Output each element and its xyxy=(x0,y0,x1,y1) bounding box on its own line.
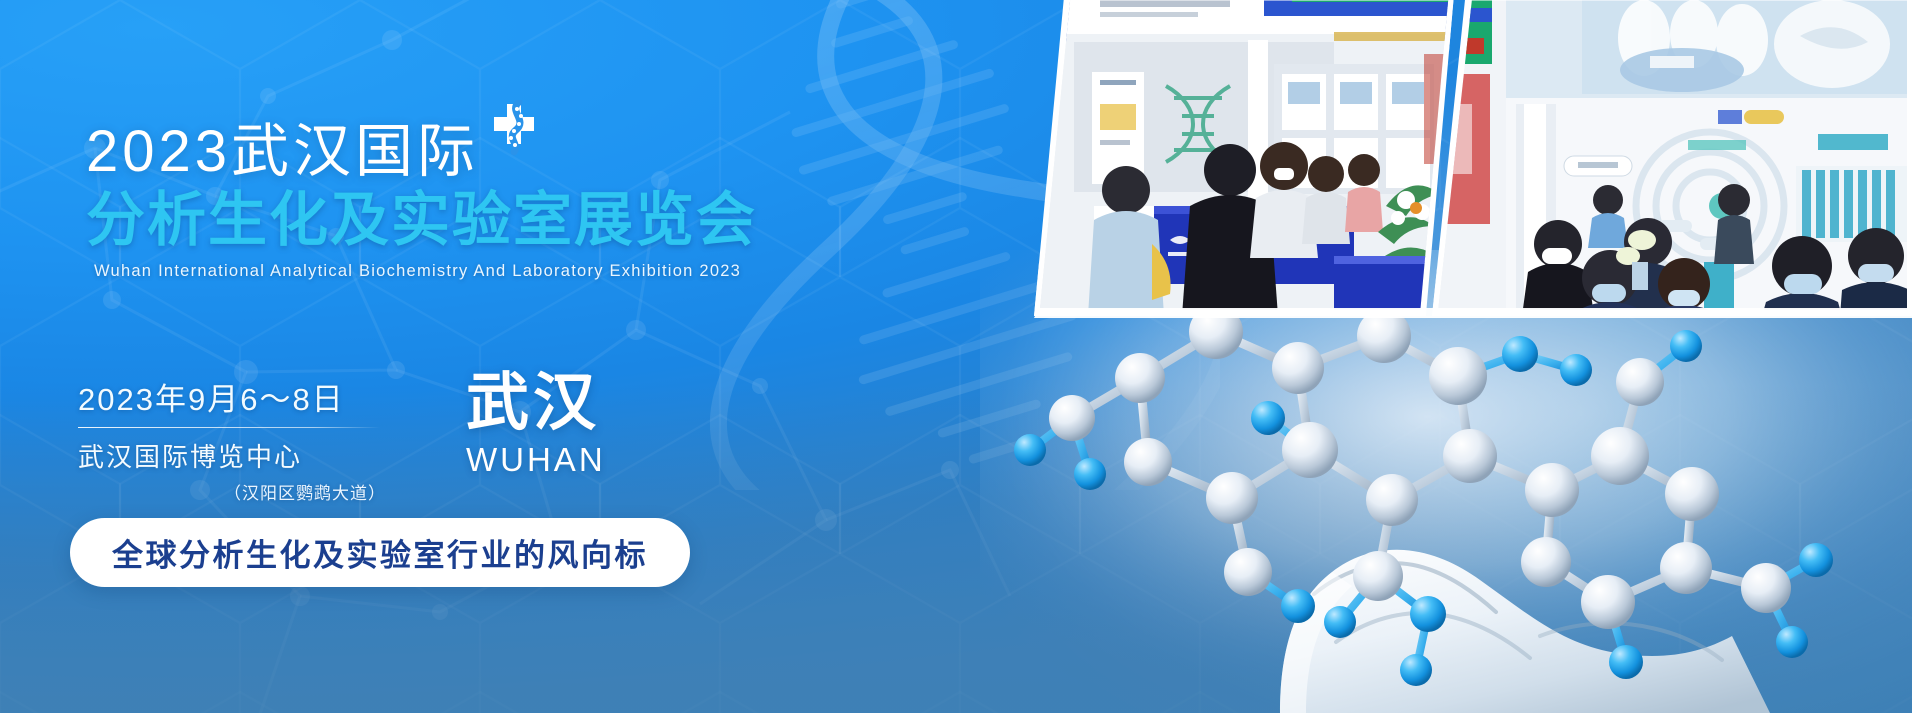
page-title: 2023武汉国际 xyxy=(86,122,846,183)
event-venue-detail: （汉阳区鹦鹉大道） xyxy=(78,479,390,504)
slogan-text: 全球分析生化及实验室行业的风向标 xyxy=(112,530,648,575)
exhibition-banner: 2023武汉国际 分析生化及实验室展览会 Wuhan International… xyxy=(0,0,1912,713)
molecular-model-in-gloved-hand xyxy=(980,250,1912,713)
slogan-badge: 全球分析生化及实验室行业的风向标 xyxy=(70,518,690,587)
photo-bottom-band xyxy=(1034,308,1912,318)
exhibition-booth-photo-left xyxy=(1034,0,1454,316)
event-city-block: 武汉 WUHAN xyxy=(466,372,606,476)
event-date-venue-block: 2023年9月6～8日 武汉国际博览中心 （汉阳区鹦鹉大道） xyxy=(78,372,390,504)
exhibition-booth-photo-right xyxy=(1432,0,1912,316)
event-date: 2023年9月6～8日 xyxy=(78,374,390,419)
divider xyxy=(78,427,380,428)
page-subtitle: 分析生化及实验室展览会 xyxy=(86,189,846,253)
page-subtitle-english: Wuhan International Analytical Biochemis… xyxy=(94,262,846,281)
event-info-row: 2023年9月6～8日 武汉国际博览中心 （汉阳区鹦鹉大道） 武汉 WUHAN xyxy=(78,372,606,504)
event-city-english: WUHAN xyxy=(466,443,606,476)
event-venue: 武汉国际博览中心 xyxy=(78,437,390,474)
medical-cross-dna-icon xyxy=(486,100,542,156)
event-city-chinese: 武汉 xyxy=(466,372,606,435)
headline-block: 2023武汉国际 分析生化及实验室展览会 Wuhan International… xyxy=(86,122,846,281)
